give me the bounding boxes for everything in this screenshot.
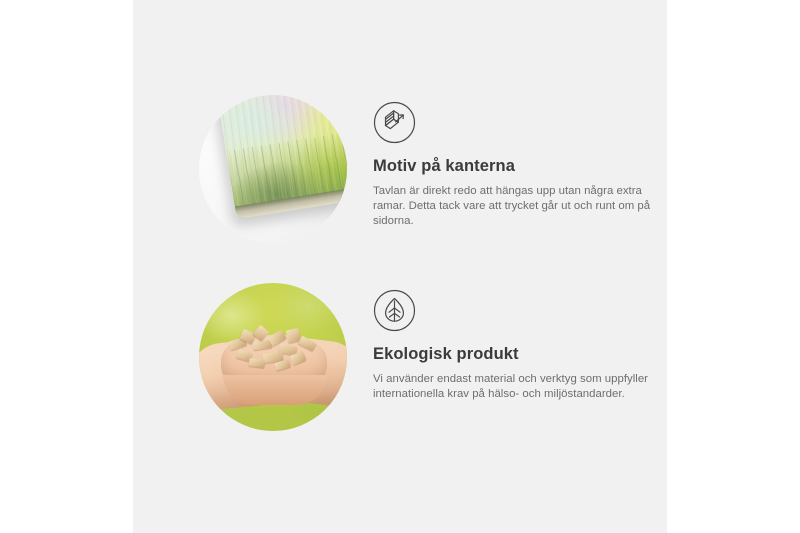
hands-holding-wood-chips-photo bbox=[199, 283, 347, 431]
leaf-icon bbox=[373, 289, 416, 332]
feature-description-edges: Tavlan är direkt redo att hängas upp uta… bbox=[373, 184, 653, 230]
canvas-corner-photo bbox=[199, 95, 347, 243]
feature-row-edges: Motiv på kanterna Tavlan är direkt redo … bbox=[199, 95, 653, 243]
content-panel: Motiv på kanterna Tavlan är direkt redo … bbox=[133, 0, 667, 533]
wood-chips bbox=[225, 323, 325, 375]
canvas-wrapped-edge-icon bbox=[373, 101, 416, 144]
feature-row-ecological: Ekologisk produkt Vi använder endast mat… bbox=[199, 283, 653, 431]
feature-copy-ecological: Ekologisk produkt Vi använder endast mat… bbox=[373, 283, 653, 402]
product-feature-panel: Motiv på kanterna Tavlan är direkt redo … bbox=[0, 0, 800, 533]
feature-description-ecological: Vi använder endast material och verktyg … bbox=[373, 372, 653, 403]
canvas-block bbox=[217, 95, 347, 219]
feature-title-ecological: Ekologisk produkt bbox=[373, 344, 653, 365]
feature-title-edges: Motiv på kanterna bbox=[373, 156, 653, 177]
feature-copy-edges: Motiv på kanterna Tavlan är direkt redo … bbox=[373, 95, 653, 230]
fingers bbox=[223, 375, 327, 405]
